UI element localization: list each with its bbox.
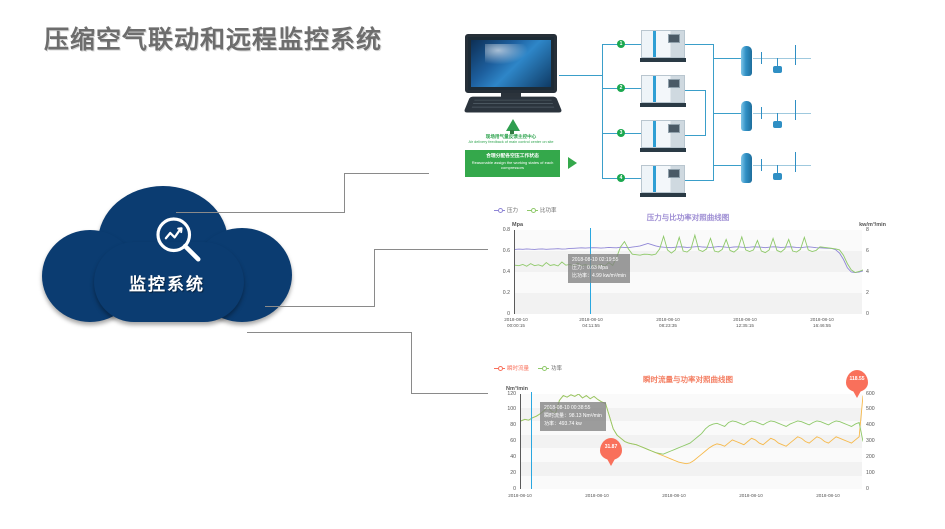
chart1-plot-area	[514, 230, 862, 314]
ytick-left: 0.4	[490, 269, 510, 275]
keyboard-icon	[464, 97, 563, 113]
output-wire-4	[685, 180, 714, 181]
ytick-left: 120	[494, 391, 516, 397]
node-dot-3: 3	[617, 129, 625, 137]
monitor-icon	[465, 34, 557, 93]
ytick-right: 400	[866, 422, 884, 428]
ytick-right: 300	[866, 438, 884, 444]
node-dot-1: 1	[617, 40, 625, 48]
xtick-date: 2018-08-10	[646, 493, 702, 499]
ytick-left: 0.6	[490, 248, 510, 254]
ytick-right: 8	[866, 227, 880, 233]
legend-item-pressure[interactable]: 压力	[494, 206, 518, 214]
tooltip-line-1: 瞬时流量：98.13 Nm³/min	[544, 413, 602, 421]
xtick-time: 12:35:15	[717, 323, 773, 329]
legend-label: 比功率	[540, 206, 557, 214]
air-tank	[741, 153, 752, 183]
xtick: 2018-08-10	[569, 493, 625, 499]
monitor-label-cn: 现场用气量反馈主控中心	[455, 134, 567, 140]
xtick-time: 16:46:55	[794, 323, 850, 329]
tool-drop-6	[795, 100, 796, 120]
tank-feed-1	[713, 58, 741, 59]
green-status-box: 合理分配各空压工作状态 Reasonable assign the workin…	[465, 150, 560, 177]
chart1-left-unit: Mpa	[512, 222, 523, 228]
legend-marker-icon	[527, 210, 538, 211]
xtick: 2018-08-10 16:46:55	[794, 317, 850, 328]
ytick-right: 200	[866, 454, 884, 460]
compressed-air-system-diagram: 现场用气量反馈主控中心 Air delivery feedback of mai…	[425, 18, 940, 198]
legend-marker-icon	[538, 368, 549, 369]
cloud-label: 监控系统	[42, 270, 292, 295]
ytick-left: 40	[494, 454, 516, 460]
air-tank	[741, 101, 752, 131]
xtick-time: 00:00:15	[488, 323, 544, 329]
legend-marker-icon	[494, 210, 505, 211]
tool-drop-3	[795, 45, 796, 65]
node-dot-4: 4	[617, 174, 625, 182]
compressor-unit	[641, 165, 685, 197]
chart2-marker-high[interactable]: 118.55	[846, 370, 868, 392]
tool-box-3	[773, 173, 782, 180]
xtick-date: 2018-08-10	[800, 493, 856, 499]
compressor-unit	[641, 120, 685, 152]
page-title: 压缩空气联动和远程监控系统	[44, 20, 382, 56]
xtick: 2018-08-10 04:11:55	[563, 317, 619, 328]
ytick-left: 100	[494, 406, 516, 412]
tank-feed-3	[713, 165, 741, 166]
ytick-right: 0	[866, 486, 884, 492]
ytick-right: 500	[866, 406, 884, 412]
instant-flow-vs-power-chart[interactable]: 瞬时流量 功率 瞬时流量与功率对照曲线图 Nm³/min 120 100 80 …	[488, 362, 888, 512]
xtick: 2018-08-10	[723, 493, 779, 499]
ytick-left: 80	[494, 422, 516, 428]
ytick-right: 4	[866, 269, 880, 275]
legend-item-power[interactable]: 功率	[538, 364, 562, 372]
ytick-left: 0.8	[490, 227, 510, 233]
air-tank	[741, 46, 752, 76]
chart1-title: 压力与比功率对照曲线图	[588, 212, 788, 223]
xtick: 2018-08-10 12:35:15	[717, 317, 773, 328]
monitor-label-en: Air delivery feedback of main control ce…	[459, 140, 563, 145]
legend-label: 功率	[551, 364, 562, 372]
xtick-time: 08:23:35	[640, 323, 696, 329]
ytick-right: 0	[866, 311, 880, 317]
ytick-left: 0.2	[490, 290, 510, 296]
xtick: 2018-08-10	[492, 493, 548, 499]
output-wire-2	[685, 90, 705, 91]
chart2-tooltip: 2018-08-10 00:38:55 瞬时流量：98.13 Nm³/min 功…	[540, 402, 606, 431]
ytick-left: 20	[494, 470, 516, 476]
tool-drop-4	[761, 107, 762, 119]
xtick: 2018-08-10	[800, 493, 856, 499]
legend-marker-icon	[494, 368, 505, 369]
ytick-right: 600	[866, 391, 884, 397]
ytick-left: 0	[494, 486, 516, 492]
tooltip-line-2: 功率：493.74 kw	[544, 421, 602, 429]
output-wire-3	[685, 135, 705, 136]
chart2-title: 瞬时流量与功率对照曲线图	[588, 374, 788, 385]
magnifier-chart-icon	[151, 212, 207, 268]
compressor-unit	[641, 75, 685, 107]
bus-vertical-left	[602, 44, 603, 178]
chart1-legend: 压力 比功率	[494, 206, 557, 214]
tooltip-line-2: 比功率：4.99 kw/m³/min	[572, 273, 626, 281]
legend-label: 瞬时流量	[507, 364, 529, 372]
xtick-date: 2018-08-10	[492, 493, 548, 499]
compressor-unit	[641, 30, 685, 62]
node-dot-2: 2	[617, 84, 625, 92]
tool-drop-1	[761, 52, 762, 64]
tool-drop-9	[795, 152, 796, 172]
green-box-label-en: Reasonable assign the working states of …	[465, 160, 560, 170]
tool-drop-7	[761, 159, 762, 171]
monitoring-system-cloud[interactable]: 监控系统	[42, 186, 292, 322]
legend-item-instant-flow[interactable]: 瞬时流量	[494, 364, 529, 372]
output-wire-1	[685, 44, 714, 45]
legend-label: 压力	[507, 206, 518, 214]
ytick-right: 100	[866, 470, 884, 476]
xtick-time: 04:11:55	[563, 323, 619, 329]
ytick-right: 6	[866, 248, 880, 254]
xtick-date: 2018-08-10	[723, 493, 779, 499]
chart1-tooltip: 2018-08-10 02:19:55 压力：0.63 Mpa 比功率：4.99…	[568, 254, 630, 283]
tooltip-line-1: 压力：0.63 Mpa	[572, 265, 626, 273]
xtick: 2018-08-10 08:23:35	[640, 317, 696, 328]
monitor-screen	[471, 40, 551, 87]
tool-box-2	[773, 121, 782, 128]
wire-monitor-to-bus	[559, 75, 602, 76]
tool-box-1	[773, 66, 782, 73]
xtick: 2018-08-10	[646, 493, 702, 499]
chart2-cursor-line[interactable]	[531, 392, 532, 489]
ytick-right: 2	[866, 290, 880, 296]
chart2-legend: 瞬时流量 功率	[494, 364, 562, 372]
screen-glow	[485, 44, 529, 66]
chart2-marker-low[interactable]: 31.87	[600, 438, 622, 460]
xtick: 2018-08-10 00:00:15	[488, 317, 544, 328]
output-bus-mid	[705, 90, 706, 136]
green-arrow-icon	[568, 157, 577, 169]
tank-feed-2	[713, 113, 741, 114]
tooltip-timestamp: 2018-08-10 02:19:55	[572, 257, 626, 265]
pressure-vs-specific-power-chart[interactable]: 压力 比功率 压力与比功率对照曲线图 Mpa kw/m³/min 0.8 0.6…	[488, 202, 888, 330]
ytick-left: 60	[494, 438, 516, 444]
legend-item-specific-power[interactable]: 比功率	[527, 206, 557, 214]
output-bus-vertical	[713, 44, 714, 180]
xtick-date: 2018-08-10	[569, 493, 625, 499]
tooltip-timestamp: 2018-08-10 00:38:55	[544, 405, 602, 413]
